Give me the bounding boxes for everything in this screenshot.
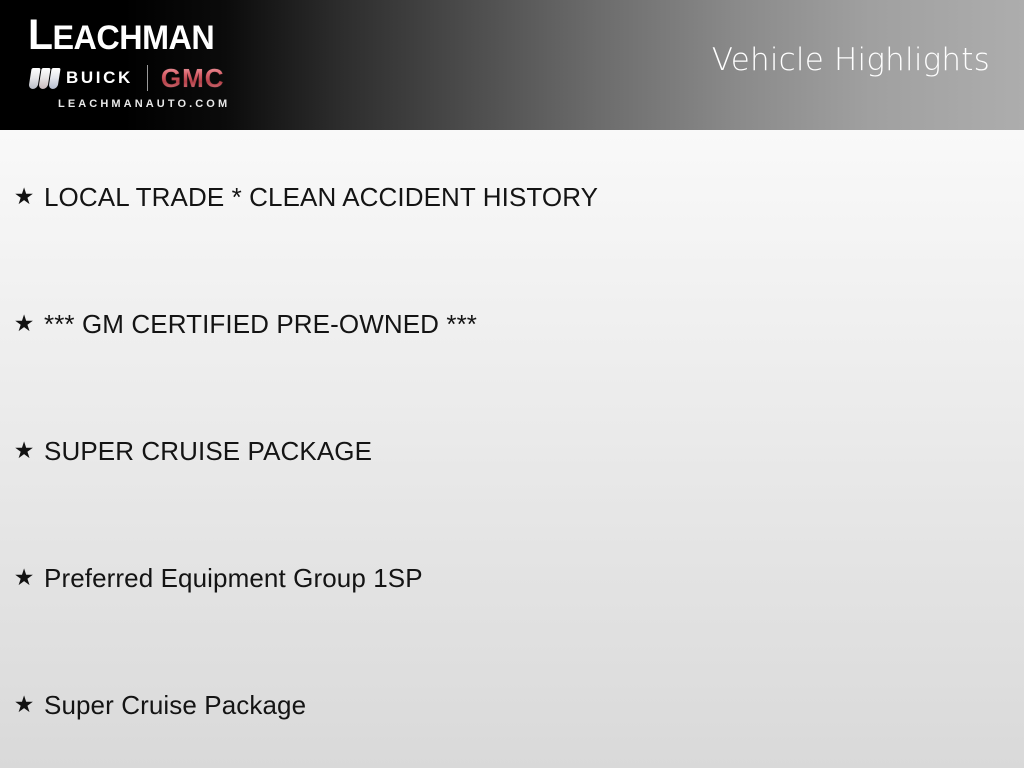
list-item: ★ SUPER CRUISE PACKAGE	[0, 431, 1024, 471]
page-header: LEACHMAN BUICK GMC LEACHMANAUTO.COM Vehi…	[0, 0, 1024, 130]
highlight-text: *** GM CERTIFIED PRE-OWNED ***	[44, 308, 477, 340]
brand-row: BUICK GMC	[30, 63, 288, 93]
star-icon: ★	[12, 563, 36, 593]
highlight-text: Super Cruise Package	[44, 689, 306, 721]
list-item: ★ Super Cruise Package	[0, 685, 1024, 725]
star-icon: ★	[12, 309, 36, 339]
gmc-label: GMC	[161, 65, 225, 91]
vehicle-highlights-list: ★ LOCAL TRADE * CLEAN ACCIDENT HISTORY ★…	[0, 130, 1024, 768]
dealer-website-url: LEACHMANAUTO.COM	[58, 98, 230, 111]
wordmark-lead-letter: L	[28, 11, 52, 59]
vehicle-highlights-page: LEACHMAN BUICK GMC LEACHMANAUTO.COM Vehi…	[0, 0, 1024, 768]
highlight-text: Preferred Equipment Group 1SP	[44, 562, 423, 594]
dealer-wordmark: LEACHMAN	[28, 14, 275, 60]
list-item: ★ Preferred Equipment Group 1SP	[0, 558, 1024, 598]
list-item: ★ LOCAL TRADE * CLEAN ACCIDENT HISTORY	[0, 177, 1024, 217]
star-icon: ★	[12, 690, 36, 720]
list-item: ★ *** GM CERTIFIED PRE-OWNED ***	[0, 304, 1024, 344]
buick-tri-shield-icon	[30, 68, 59, 89]
brand-divider	[147, 65, 148, 91]
dealer-logo[interactable]: LEACHMAN BUICK GMC LEACHMANAUTO.COM	[28, 14, 288, 118]
page-title: Vehicle Highlights	[712, 40, 990, 80]
star-icon: ★	[12, 436, 36, 466]
highlight-text: SUPER CRUISE PACKAGE	[44, 435, 372, 467]
buick-label: BUICK	[66, 68, 133, 88]
wordmark-rest: EACHMAN	[52, 19, 214, 57]
star-icon: ★	[12, 182, 36, 212]
highlight-text: LOCAL TRADE * CLEAN ACCIDENT HISTORY	[44, 181, 598, 213]
